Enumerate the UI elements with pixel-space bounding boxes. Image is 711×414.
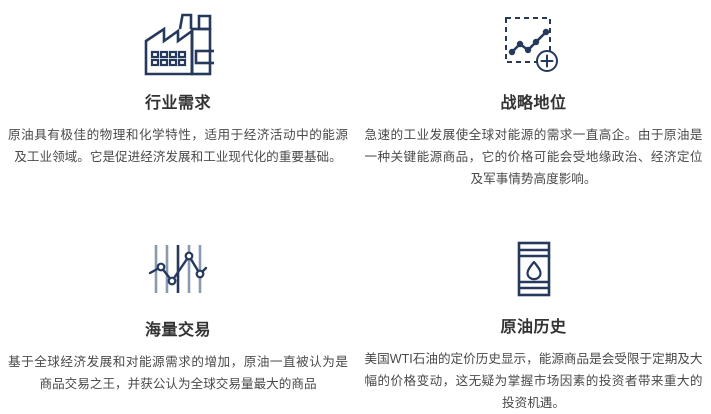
card-title: 原油历史: [500, 318, 566, 338]
card-body: 基于全球经济发展和对能源需求的增加，原油一直被认为是商品交易之王，并获公认为全球…: [8, 351, 348, 395]
card-title: 行业需求: [145, 94, 211, 114]
feature-card-oil-history: 原油历史 美国WTI石油的定价历史显示，能源商品是会受限于定期及大幅的价格变动，…: [356, 207, 711, 414]
oil-barrel-icon: [512, 231, 556, 306]
feature-card-grid: 行业需求 原油具有极佳的物理和化学特性，适用于经济活动中的能源及工业领域。它是促…: [0, 0, 711, 414]
feature-card-strategic-position: 战略地位 急速的工业发展使全球对能源的需求一直高企。由于原油是一种关键能源商品，…: [356, 0, 711, 207]
factory-icon: [142, 6, 214, 84]
card-title: 海量交易: [145, 321, 211, 341]
card-body: 急速的工业发展使全球对能源的需求一直高企。由于原油是一种关键能源商品，它的价格可…: [365, 124, 703, 190]
card-body: 美国WTI石油的定价历史显示，能源商品是会受限于定期及大幅的价格变动，这无疑为掌…: [365, 348, 703, 414]
card-body: 原油具有极佳的物理和化学特性，适用于经济活动中的能源及工业领域。它是促进经济发展…: [8, 124, 348, 168]
volume-chart-icon: [147, 231, 209, 309]
feature-card-industry-demand: 行业需求 原油具有极佳的物理和化学特性，适用于经济活动中的能源及工业领域。它是促…: [0, 0, 356, 207]
card-title: 战略地位: [500, 94, 566, 114]
feature-card-huge-volume: 海量交易 基于全球经济发展和对能源需求的增加，原油一直被认为是商品交易之王，并获…: [0, 207, 356, 414]
chart-add-icon: [502, 6, 566, 84]
